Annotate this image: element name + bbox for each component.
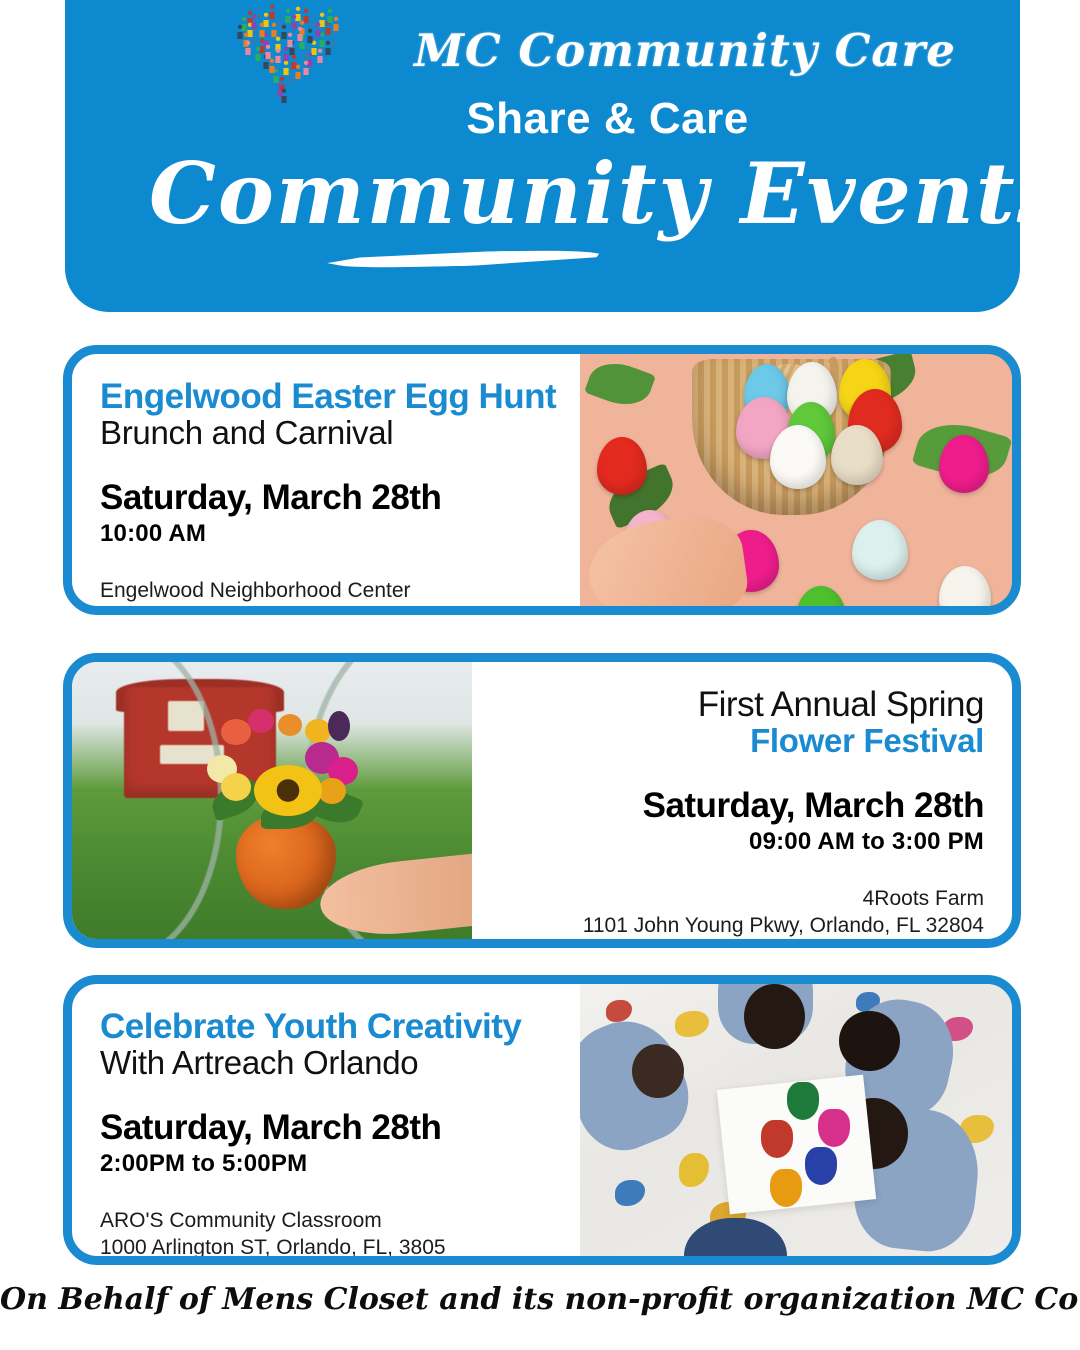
event-title: Engelwood Easter Egg Hunt (100, 378, 552, 415)
event-time: 09:00 AM to 3:00 PM (749, 828, 984, 856)
event-title: First Annual Spring (698, 686, 984, 723)
event-venue: ARO'S Community Classroom (100, 1208, 552, 1235)
event-subtitle: Flower Festival (750, 723, 984, 760)
event-address: 1101 John Young Pkwy, Orlando, FL 32804 (583, 913, 984, 940)
community-hand-painting-photo (580, 984, 1012, 1256)
event-time: 2:00PM to 5:00PM (100, 1150, 552, 1178)
header-banner: MC Community Care Share & Care Community… (65, 0, 1020, 312)
footer-note: On Behalf of Mens Closet and its non-pro… (0, 1282, 1080, 1317)
event-date: Saturday, March 28th (643, 787, 984, 826)
brand-subtitle: Share & Care (130, 94, 1080, 144)
event-details: First Annual Spring Flower Festival Satu… (472, 662, 1012, 939)
event-card-1[interactable]: Engelwood Easter Egg Hunt Brunch and Car… (63, 345, 1021, 615)
brand-name: MC Community Care (365, 24, 1005, 77)
event-date: Saturday, March 28th (100, 1109, 552, 1148)
title-underline-swoosh-icon (327, 248, 602, 270)
flower-pumpkin-vase-photo (72, 662, 472, 939)
event-title: Celebrate Youth Creativity (100, 1008, 552, 1045)
page-title: Community Events (130, 150, 1080, 238)
event-address: 1000 Arlington ST, Orlando, FL, 3805 (100, 1235, 552, 1262)
event-details: Celebrate Youth Creativity With Artreach… (72, 984, 580, 1256)
event-details: Engelwood Easter Egg Hunt Brunch and Car… (72, 354, 580, 606)
event-venue: 4Roots Farm (863, 886, 984, 913)
event-address: 6123 La Costa Drive, Orlando, FL 32807 (100, 605, 552, 615)
event-time: 10:00 AM (100, 520, 552, 548)
event-card-2[interactable]: First Annual Spring Flower Festival Satu… (63, 653, 1021, 948)
event-flyer: MC Community Care Share & Care Community… (0, 0, 1080, 1350)
event-subtitle: With Artreach Orlando (100, 1045, 552, 1082)
event-date: Saturday, March 28th (100, 479, 552, 518)
event-subtitle: Brunch and Carnival (100, 415, 552, 452)
event-venue: Engelwood Neighborhood Center (100, 578, 552, 605)
event-card-3[interactable]: Celebrate Youth Creativity With Artreach… (63, 975, 1021, 1265)
easter-eggs-basket-photo (580, 354, 1012, 606)
people-heart-logo-icon (210, 0, 360, 106)
